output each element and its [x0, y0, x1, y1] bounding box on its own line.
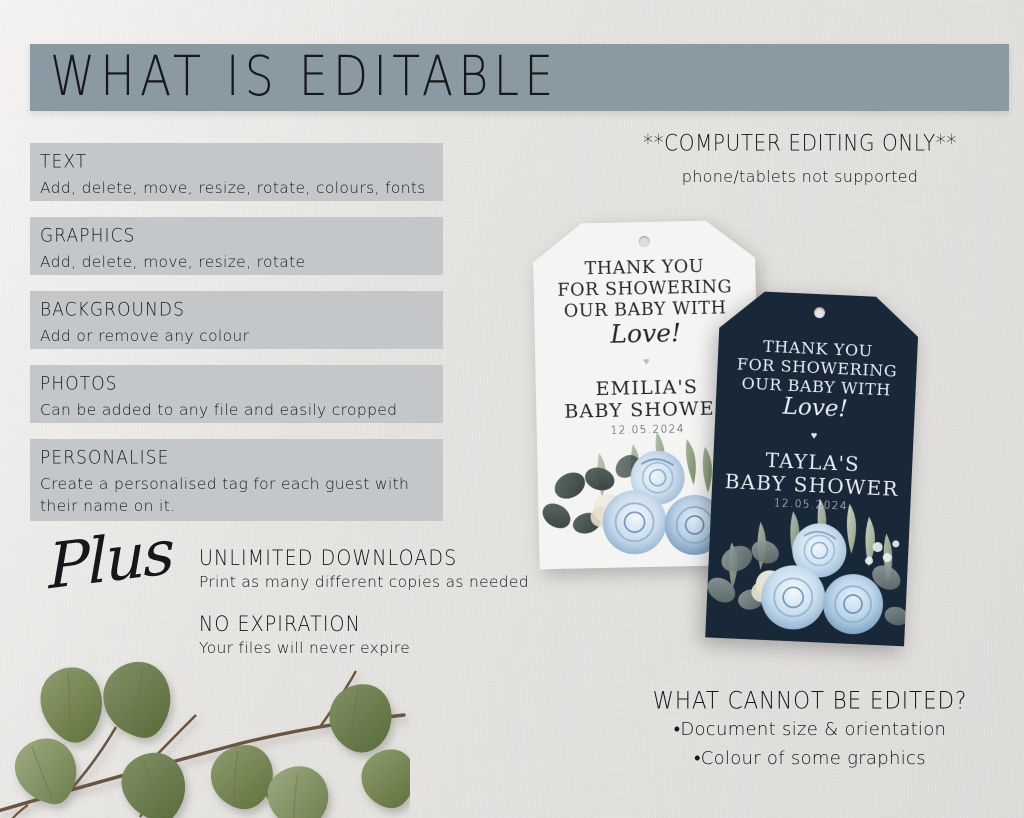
- feature-description: Add, delete, move, resize, rotate: [40, 251, 443, 273]
- feature-box-graphics: GRAPHICS Add, delete, move, resize, rota…: [30, 217, 443, 275]
- product-tag-navy: THANK YOU FOR SHOWERING OUR BABY WITH Lo…: [705, 290, 920, 647]
- feature-title: GRAPHICS: [40, 226, 443, 248]
- plus-script-label: Plus: [48, 518, 199, 632]
- editable-features-page: WHAT IS EDITABLE TEXT Add, delete, move,…: [0, 0, 1024, 818]
- feature-title: TEXT: [40, 152, 443, 174]
- feature-title: PERSONALISE: [40, 448, 443, 470]
- plus-item-description: Print as many different copies as needed: [199, 573, 529, 591]
- feature-title: BACKGROUNDS: [40, 300, 443, 322]
- plus-item-unlimited-downloads: UNLIMITED DOWNLOADS Print as many differ…: [199, 546, 529, 591]
- feature-description: Add, delete, move, resize, rotate, colou…: [40, 177, 443, 199]
- cannot-be-edited-item: •Colour of some graphics: [610, 748, 1010, 769]
- plus-item-title: NO EXPIRATION: [199, 612, 410, 637]
- feature-box-photos: PHOTOS Can be added to any file and easi…: [30, 365, 443, 423]
- header-bar: WHAT IS EDITABLE: [30, 44, 1009, 111]
- feature-description: Add or remove any colour: [40, 325, 443, 347]
- feature-box-personalise: PERSONALISE Create a personalised tag fo…: [30, 439, 443, 521]
- plus-item-no-expiration: NO EXPIRATION Your files will never expi…: [199, 612, 410, 657]
- feature-box-backgrounds: BACKGROUNDS Add or remove any colour: [30, 291, 443, 349]
- feature-box-text: TEXT Add, delete, move, resize, rotate, …: [30, 143, 443, 201]
- plus-item-title: UNLIMITED DOWNLOADS: [199, 546, 529, 571]
- feature-title: PHOTOS: [40, 374, 443, 396]
- computer-editing-only-heading: **COMPUTER EDITING ONLY**: [600, 129, 1000, 156]
- computer-editing-only-subheading: phone/tablets not supported: [600, 167, 1000, 186]
- feature-description: Can be added to any file and easily crop…: [40, 399, 443, 421]
- feature-description: Create a personalised tag for each guest…: [40, 473, 420, 518]
- page-title: WHAT IS EDITABLE: [50, 44, 558, 109]
- cannot-be-edited-item: •Document size & orientation: [610, 719, 1010, 740]
- cannot-be-edited-title: WHAT CANNOT BE EDITED?: [610, 687, 1010, 715]
- tag-punch-hole-icon: [638, 236, 649, 247]
- plus-item-description: Your files will never expire: [199, 639, 410, 657]
